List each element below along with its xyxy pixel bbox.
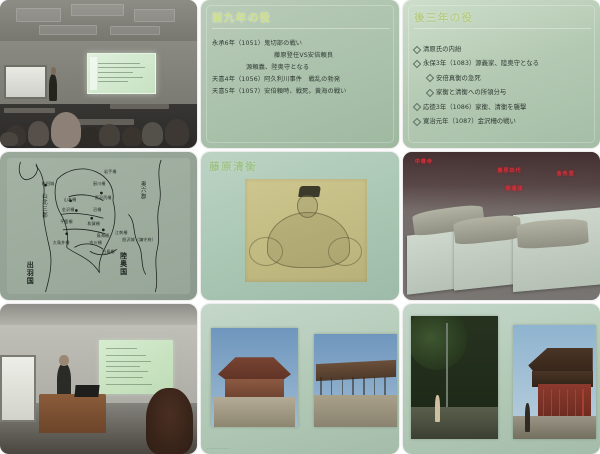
title-rule: [414, 28, 591, 29]
map-label: 鳥海柵: [97, 233, 110, 239]
photo-long-corridor: [314, 334, 397, 427]
panel-konjikido-mummies[interactable]: 中尊寺 藤原四代 金色堂 御遺体: [403, 152, 600, 300]
portrait-image: [245, 179, 368, 283]
bullet-item: 清原氏の内紛: [414, 42, 591, 56]
photo-collage: 前九年の役 永承6年（1051）鬼切部の戦い 藤原登任VS安倍頼良 源頼義、陸奥…: [0, 0, 600, 450]
map-region-label: 奥六郡: [139, 181, 147, 200]
projection-screen: [99, 340, 174, 394]
whiteboard: [0, 355, 36, 422]
map-label: 金沢柵: [62, 207, 75, 213]
map-region-label: 陸奥国: [119, 252, 129, 276]
ceiling: [0, 304, 197, 325]
map-label: 白鳥柵: [102, 249, 115, 255]
panel-historical-map[interactable]: 秋田城 岩手柵 厨川柵 黒沢尻柵 山本柵 金沢柵 沼柵 平鹿柵 和賀柵 鳥海柵 …: [0, 152, 197, 300]
panel-lecturer-podium[interactable]: [0, 304, 197, 454]
slide-title: 藤原清衡: [209, 159, 257, 174]
slide-body: 永承6年（1051）鬼切部の戦い 藤原登任VS安倍頼良 源頼義、陸奥守となる 天…: [212, 38, 390, 98]
bullet-item: 安倍真衡の急死: [414, 71, 591, 85]
slide-title: 前九年の役: [212, 10, 390, 25]
panel-slide-gosannen[interactable]: 後三年の役 清原氏の内紛 永保3年（1083）源義家、陸奥守となる 安倍真衡の急…: [403, 0, 600, 148]
map-region-label: 山北三郡: [40, 193, 48, 219]
title-rule: [212, 28, 390, 29]
red-banner-text: 藤原四代: [498, 167, 522, 174]
map-label: 衣川柵: [89, 240, 102, 246]
photo-vermilion-gate: [513, 325, 596, 439]
map-label: 厨川柵: [93, 181, 106, 187]
map-label: 沼柵: [93, 207, 101, 213]
map-label: 和賀柵: [88, 221, 101, 227]
photo-tree-lined-approach: [411, 316, 498, 439]
red-banner-text: 金色堂: [557, 170, 575, 177]
slide-line: 藤原登任VS安倍頼良: [212, 50, 390, 62]
map-region-label: 出羽国: [25, 261, 35, 285]
bullet-item: 永保3年（1083）源義家、陸奥守となる: [414, 56, 591, 70]
map-label: 大鳥井柵: [53, 240, 70, 246]
bullet-item: 応徳3年（1086）家衡、清衡を襲撃: [414, 100, 591, 114]
audience: [0, 86, 197, 148]
figure-sleeve: [328, 237, 362, 266]
slide-title: 後三年の役: [414, 10, 591, 25]
panel-slide-zenkunen[interactable]: 前九年の役 永承6年（1051）鬼切部の戦い 藤原登任VS安倍頼良 源頼義、陸奥…: [201, 0, 399, 148]
panel-slide-shrine-photos[interactable]: [403, 304, 600, 454]
slide-caption: ‧‧‧‧‧‧‧‧‧‧‧‧‧‧‧: [207, 447, 230, 451]
panel-portrait-kiyohira[interactable]: 藤原清衡: [201, 152, 399, 300]
slide-line: 天喜5年（1057）安倍頼時、戦死。黄海の戦い: [212, 86, 390, 98]
bullet-item: 家衡と清衡への所領分与: [414, 85, 591, 99]
slide-line: 永承6年（1051）鬼切部の戦い: [212, 38, 390, 50]
red-banner-text: 中尊寺: [415, 158, 433, 165]
slide-bullet-list: 清原氏の内紛 永保3年（1083）源義家、陸奥守となる 安倍真衡の急死 家衡と清…: [414, 42, 591, 128]
figure-sleeve: [249, 237, 283, 266]
map-label: 平鹿柵: [60, 219, 73, 225]
red-banner-text: 御遺体: [505, 185, 523, 192]
bullet-item: 寛治元年（1087）金沢柵の戦い: [414, 114, 591, 128]
map-label: 山本柵: [64, 197, 77, 203]
map-label: 秋田城: [42, 181, 55, 187]
map-label: 江刺柵: [115, 230, 128, 236]
slide-line: 天喜4年（1056）阿久利川事件 戦乱の勃発: [212, 74, 390, 86]
map-label: 胆沢城（鎮守府）: [122, 237, 156, 243]
panel-lecture-room-wide[interactable]: [0, 0, 197, 148]
map-frame: 秋田城 岩手柵 厨川柵 黒沢尻柵 山本柵 金沢柵 沼柵 平鹿柵 和賀柵 鳥海柵 …: [7, 158, 190, 294]
map-label: 岩手柵: [104, 169, 117, 175]
photo-temple-main-hall: [211, 328, 298, 427]
ceiling: [0, 0, 197, 44]
audience-member: [146, 388, 193, 454]
podium: [39, 394, 106, 433]
panel-slide-temple-photos[interactable]: ‧‧‧‧‧‧‧‧‧‧‧‧‧‧‧: [201, 304, 399, 454]
laptop: [74, 385, 99, 397]
slide-line: 源頼義、陸奥守となる: [212, 62, 390, 74]
map-label: 黒沢尻柵: [95, 195, 112, 201]
mummy: [516, 218, 589, 250]
